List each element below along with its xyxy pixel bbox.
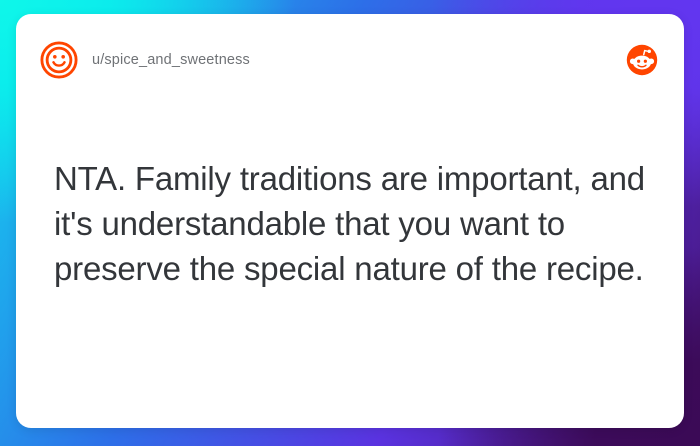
reddit-comment-card: u/spice_and_sweetness NTA. Family tradit… <box>16 14 684 428</box>
post-text: NTA. Family traditions are important, an… <box>54 156 658 291</box>
username-label: u/spice_and_sweetness <box>92 52 250 68</box>
card-header: u/spice_and_sweetness <box>16 14 684 106</box>
post-body: NTA. Family traditions are important, an… <box>54 156 658 291</box>
smiley-face-avatar-icon[interactable] <box>40 41 78 79</box>
reddit-snoo-logo-icon[interactable] <box>626 44 658 76</box>
